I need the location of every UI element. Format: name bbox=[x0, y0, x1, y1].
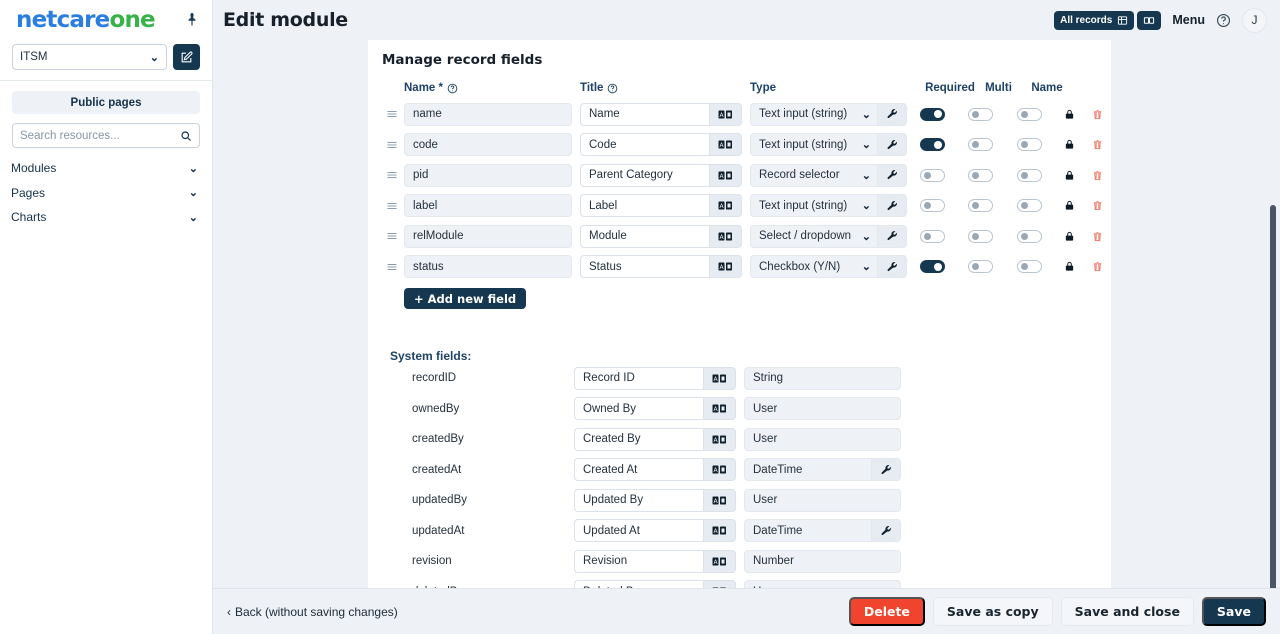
field-type-value: Record selector bbox=[759, 169, 840, 181]
required-toggle-cell bbox=[907, 199, 957, 212]
translate-icon[interactable]: A bbox=[703, 458, 736, 481]
field-name-input[interactable]: relModule bbox=[404, 225, 572, 248]
multi-toggle-cell bbox=[957, 138, 1004, 151]
field-title-group: ModuleA bbox=[580, 225, 742, 248]
field-type-group: Record selector⌄ bbox=[750, 164, 907, 187]
drag-handle-icon[interactable] bbox=[382, 230, 404, 242]
trash-icon[interactable] bbox=[1084, 108, 1110, 121]
name-toggle[interactable] bbox=[1017, 230, 1042, 243]
pin-icon[interactable] bbox=[185, 12, 201, 28]
field-name-input[interactable]: code bbox=[404, 133, 572, 156]
table-row: labelLabelAText input (string)⌄ bbox=[382, 191, 1111, 222]
org-select[interactable]: ITSM ⌄ bbox=[12, 44, 167, 70]
system-field-title-group: Created ByA bbox=[574, 428, 736, 451]
system-field-row: deletedByDeleted ByAUser bbox=[382, 577, 1111, 589]
required-toggle[interactable] bbox=[920, 138, 945, 151]
system-field-name: recordID bbox=[382, 372, 574, 384]
required-toggle-cell bbox=[907, 260, 957, 273]
sidebar-item-charts[interactable]: Charts ⌄ bbox=[0, 205, 212, 230]
all-records-button[interactable]: All records bbox=[1054, 11, 1134, 30]
name-toggle-cell bbox=[1004, 260, 1054, 273]
wrench-icon[interactable] bbox=[877, 225, 907, 248]
required-toggle[interactable] bbox=[920, 169, 945, 182]
system-field-name: updatedBy bbox=[382, 494, 574, 506]
trash-icon[interactable] bbox=[1084, 199, 1110, 212]
wrench-icon[interactable] bbox=[877, 194, 907, 217]
field-title-input[interactable]: Module bbox=[580, 225, 709, 248]
topbar: Edit module All records Menu J bbox=[213, 0, 1280, 40]
field-title-input[interactable]: Code bbox=[580, 133, 709, 156]
trash-icon[interactable] bbox=[1084, 169, 1110, 182]
field-type-select[interactable]: Select / dropdown⌄ bbox=[750, 225, 877, 248]
trash-icon[interactable] bbox=[1084, 230, 1110, 243]
required-toggle[interactable] bbox=[920, 199, 945, 212]
field-title-input[interactable]: Label bbox=[580, 194, 709, 217]
name-toggle[interactable] bbox=[1017, 169, 1042, 182]
sidebar-item-label: Pages bbox=[11, 186, 45, 200]
col-header-name: Name * bbox=[404, 82, 580, 94]
chevron-down-icon: ⌄ bbox=[862, 260, 871, 273]
trash-icon[interactable] bbox=[1084, 260, 1110, 273]
system-field-title-input[interactable]: Created By bbox=[574, 428, 703, 451]
lock-icon[interactable] bbox=[1054, 260, 1084, 273]
app-root: netcareone ITSM ⌄ Public pages Modules bbox=[0, 0, 1280, 634]
help-circle-icon[interactable] bbox=[447, 83, 458, 94]
field-type-group: Text input (string)⌄ bbox=[750, 194, 907, 217]
table-row: codeCodeAText input (string)⌄ bbox=[382, 130, 1111, 161]
wrench-icon[interactable] bbox=[877, 164, 907, 187]
field-name-input[interactable]: name bbox=[404, 103, 572, 126]
field-type-select[interactable]: Text input (string)⌄ bbox=[750, 194, 877, 217]
col-header-name-label: Name * bbox=[404, 82, 443, 94]
system-field-type: User bbox=[744, 489, 901, 512]
system-field-type: User bbox=[744, 397, 901, 420]
field-type-select[interactable]: Record selector⌄ bbox=[750, 164, 877, 187]
public-pages-button[interactable]: Public pages bbox=[12, 91, 200, 114]
system-field-title-group: Deleted ByA bbox=[574, 580, 736, 588]
system-field-name: ownedBy bbox=[382, 403, 574, 415]
name-toggle[interactable] bbox=[1017, 108, 1042, 121]
system-field-row: updatedByUpdated ByAUser bbox=[382, 485, 1111, 516]
help-circle-icon[interactable] bbox=[1216, 13, 1231, 28]
sidebar: netcareone ITSM ⌄ Public pages Modules bbox=[0, 0, 213, 634]
col-header-type: Type bbox=[750, 82, 925, 94]
sidebar-item-label: Modules bbox=[11, 161, 56, 175]
chevron-down-icon: ⌄ bbox=[862, 108, 871, 121]
chevron-down-icon: ⌄ bbox=[862, 138, 871, 151]
chevron-down-icon: ⌄ bbox=[862, 199, 871, 212]
multi-toggle-cell bbox=[957, 199, 1004, 212]
org-selector-row: ITSM ⌄ bbox=[0, 40, 212, 80]
sidebar-item-pages[interactable]: Pages ⌄ bbox=[0, 181, 212, 206]
app-logo[interactable]: netcareone bbox=[16, 7, 155, 33]
system-field-title-input[interactable]: Deleted By bbox=[574, 580, 703, 588]
system-field-title-input[interactable]: Updated By bbox=[574, 489, 703, 512]
fields-table-header: Name * Title Type Required Multi bbox=[382, 77, 1111, 99]
system-field-name: updatedAt bbox=[382, 525, 574, 537]
translate-icon[interactable]: A bbox=[709, 225, 742, 248]
table-row: pidParent CategoryARecord selector⌄ bbox=[382, 160, 1111, 191]
field-type-value: Text input (string) bbox=[759, 200, 847, 212]
field-title-input[interactable]: Parent Category bbox=[580, 164, 709, 187]
system-field-title-input[interactable]: Updated At bbox=[574, 519, 703, 542]
add-new-field-button[interactable]: + Add new field bbox=[404, 288, 526, 309]
multi-toggle-cell bbox=[957, 169, 1004, 182]
translate-icon[interactable]: A bbox=[703, 580, 736, 588]
system-field-name: createdAt bbox=[382, 464, 574, 476]
view-switch-group: All records bbox=[1054, 11, 1161, 30]
field-title-group: StatusA bbox=[580, 255, 742, 278]
back-link-label: Back (without saving changes) bbox=[235, 605, 398, 619]
lock-icon[interactable] bbox=[1054, 169, 1084, 182]
multi-toggle[interactable] bbox=[968, 138, 993, 151]
table-row: nameNameAText input (string)⌄ bbox=[382, 99, 1111, 130]
delete-button[interactable]: Delete bbox=[849, 597, 925, 626]
field-type-group: Select / dropdown⌄ bbox=[750, 225, 907, 248]
field-name-input[interactable]: label bbox=[404, 194, 572, 217]
chevron-down-icon: ⌄ bbox=[862, 169, 871, 182]
system-field-type: String bbox=[744, 367, 901, 390]
system-field-title-group: Owned ByA bbox=[574, 397, 736, 420]
translate-icon[interactable]: A bbox=[703, 397, 736, 420]
drag-handle-icon[interactable] bbox=[382, 261, 404, 273]
wrench-icon[interactable] bbox=[871, 458, 901, 481]
translate-icon[interactable]: A bbox=[709, 133, 742, 156]
field-type-select[interactable]: Text input (string)⌄ bbox=[750, 133, 877, 156]
search-icon[interactable] bbox=[180, 130, 192, 142]
chevron-down-icon: ⌄ bbox=[189, 186, 198, 199]
translate-icon[interactable]: A bbox=[709, 103, 742, 126]
system-field-row: updatedAtUpdated AtADateTime bbox=[382, 516, 1111, 547]
field-title-input[interactable]: Status bbox=[580, 255, 709, 278]
field-name-input[interactable]: pid bbox=[404, 164, 572, 187]
system-field-title-group: Updated AtA bbox=[574, 519, 736, 542]
chevron-down-icon: ⌄ bbox=[150, 51, 159, 64]
system-field-type: User bbox=[744, 580, 901, 588]
translate-icon[interactable]: A bbox=[709, 194, 742, 217]
system-field-title-input[interactable]: Owned By bbox=[574, 397, 703, 420]
required-toggle-cell bbox=[907, 108, 957, 121]
system-field-type: DateTime bbox=[744, 458, 871, 481]
multi-toggle[interactable] bbox=[968, 169, 993, 182]
name-toggle-cell bbox=[1004, 138, 1054, 151]
system-field-title-group: RevisionA bbox=[574, 550, 736, 573]
system-field-type: DateTime bbox=[744, 519, 871, 542]
save-button[interactable]: Save bbox=[1202, 597, 1266, 626]
multi-toggle-cell bbox=[957, 230, 1004, 243]
sidebar-item-label: Charts bbox=[11, 210, 46, 224]
sidebar-nav: Modules ⌄ Pages ⌄ Charts ⌄ bbox=[0, 156, 212, 230]
required-toggle[interactable] bbox=[920, 260, 945, 273]
system-field-type: Number bbox=[744, 550, 901, 573]
col-header-multi: Multi bbox=[975, 82, 1022, 94]
content-area: Manage record fields Name * Title bbox=[213, 40, 1280, 588]
field-type-group: Text input (string)⌄ bbox=[750, 133, 907, 156]
card-view-button[interactable] bbox=[1137, 11, 1161, 30]
content-scrollbar[interactable] bbox=[1270, 205, 1276, 588]
field-title-input[interactable]: Name bbox=[580, 103, 709, 126]
multi-toggle[interactable] bbox=[968, 260, 993, 273]
system-field-title-group: Created AtA bbox=[574, 458, 736, 481]
fields-table-body: nameNameAText input (string)⌄codeCodeATe… bbox=[382, 99, 1111, 282]
system-field-title-group: Record IDA bbox=[574, 367, 736, 390]
required-toggle-cell bbox=[907, 169, 957, 182]
multi-toggle[interactable] bbox=[968, 230, 993, 243]
system-fields-body: recordIDRecord IDAStringownedByOwned ByA… bbox=[382, 363, 1111, 588]
field-title-group: LabelA bbox=[580, 194, 742, 217]
system-field-title-group: Updated ByA bbox=[574, 489, 736, 512]
field-type-select[interactable]: Checkbox (Y/N)⌄ bbox=[750, 255, 877, 278]
system-field-name: createdBy bbox=[382, 433, 574, 445]
field-type-value: Text input (string) bbox=[759, 139, 847, 151]
system-field-row: createdAtCreated AtADateTime bbox=[382, 455, 1111, 486]
all-records-label: All records bbox=[1060, 15, 1112, 26]
table-row: statusStatusACheckbox (Y/N)⌄ bbox=[382, 252, 1111, 283]
translate-icon[interactable]: A bbox=[703, 550, 736, 573]
system-field-title-input[interactable]: Created At bbox=[574, 458, 703, 481]
drag-handle-icon[interactable] bbox=[382, 139, 404, 151]
wrench-icon[interactable] bbox=[877, 133, 907, 156]
field-title-group: CodeA bbox=[580, 133, 742, 156]
name-toggle[interactable] bbox=[1017, 138, 1042, 151]
multi-toggle-cell bbox=[957, 260, 1004, 273]
table-row: relModuleModuleASelect / dropdown⌄ bbox=[382, 221, 1111, 252]
name-toggle-cell bbox=[1004, 199, 1054, 212]
translate-icon[interactable]: A bbox=[709, 164, 742, 187]
wrench-icon[interactable] bbox=[871, 519, 901, 542]
col-header-title: Title bbox=[580, 82, 750, 94]
translate-icon[interactable]: A bbox=[703, 428, 736, 451]
field-type-group: Text input (string)⌄ bbox=[750, 103, 907, 126]
col-header-name-toggle: Name bbox=[1022, 82, 1072, 94]
page-title: Edit module bbox=[223, 9, 348, 31]
field-type-group: Checkbox (Y/N)⌄ bbox=[750, 255, 907, 278]
save-as-copy-button[interactable]: Save as copy bbox=[933, 597, 1053, 626]
lock-icon[interactable] bbox=[1054, 199, 1084, 212]
name-toggle-cell bbox=[1004, 108, 1054, 121]
avatar[interactable]: J bbox=[1242, 8, 1267, 33]
lock-icon[interactable] bbox=[1054, 230, 1084, 243]
field-title-group: NameA bbox=[580, 103, 742, 126]
field-type-value: Checkbox (Y/N) bbox=[759, 261, 840, 273]
back-link[interactable]: ‹ Back (without saving changes) bbox=[227, 605, 398, 619]
name-toggle[interactable] bbox=[1017, 199, 1042, 212]
system-field-row: revisionRevisionANumber bbox=[382, 546, 1111, 577]
search-resources-field[interactable] bbox=[12, 123, 200, 148]
required-toggle[interactable] bbox=[920, 230, 945, 243]
name-toggle-cell bbox=[1004, 169, 1054, 182]
system-fields-title: System fields: bbox=[390, 349, 1111, 363]
wrench-icon[interactable] bbox=[877, 103, 907, 126]
lock-icon[interactable] bbox=[1054, 138, 1084, 151]
col-header-title-label: Title bbox=[580, 82, 603, 94]
system-field-row: ownedByOwned ByAUser bbox=[382, 394, 1111, 425]
drag-handle-icon[interactable] bbox=[382, 169, 404, 181]
footer-buttons: Delete Save as copy Save and close Save bbox=[849, 597, 1266, 626]
translate-icon[interactable]: A bbox=[709, 255, 742, 278]
system-field-title-input[interactable]: Revision bbox=[574, 550, 703, 573]
system-field-type: User bbox=[744, 428, 901, 451]
required-toggle-cell bbox=[907, 138, 957, 151]
org-select-value: ITSM bbox=[20, 51, 47, 63]
drag-handle-icon[interactable] bbox=[382, 200, 404, 212]
system-field-title-input[interactable]: Record ID bbox=[574, 367, 703, 390]
topbar-actions: All records Menu J bbox=[1054, 8, 1280, 33]
logo-row: netcareone bbox=[0, 0, 212, 40]
field-type-value: Select / dropdown bbox=[759, 230, 851, 242]
field-type-select[interactable]: Text input (string)⌄ bbox=[750, 103, 877, 126]
chevron-down-icon: ⌄ bbox=[189, 162, 198, 175]
footer-actionbar: ‹ Back (without saving changes) Delete S… bbox=[213, 588, 1280, 634]
multi-toggle-cell bbox=[957, 108, 1004, 121]
save-and-close-button[interactable]: Save and close bbox=[1061, 597, 1194, 626]
system-field-row: createdByCreated ByAUser bbox=[382, 424, 1111, 455]
field-type-value: Text input (string) bbox=[759, 108, 847, 120]
system-field-row: recordIDRecord IDAString bbox=[382, 363, 1111, 394]
menu-button[interactable]: Menu bbox=[1172, 13, 1205, 27]
field-title-group: Parent CategoryA bbox=[580, 164, 742, 187]
wrench-icon[interactable] bbox=[877, 255, 907, 278]
system-field-name: revision bbox=[382, 555, 574, 567]
chevron-left-icon: ‹ bbox=[227, 605, 231, 619]
sidebar-divider bbox=[0, 80, 212, 81]
multi-toggle[interactable] bbox=[968, 199, 993, 212]
card-view-icon[interactable] bbox=[1143, 15, 1155, 26]
translate-icon[interactable]: A bbox=[703, 489, 736, 512]
search-input[interactable] bbox=[20, 130, 180, 142]
translate-icon[interactable]: A bbox=[703, 519, 736, 542]
chevron-down-icon: ⌄ bbox=[189, 211, 198, 224]
translate-icon[interactable]: A bbox=[703, 367, 736, 390]
field-name-input[interactable]: status bbox=[404, 255, 572, 278]
lock-icon[interactable] bbox=[1054, 108, 1084, 121]
chevron-down-icon: ⌄ bbox=[862, 230, 871, 243]
edit-square-icon[interactable] bbox=[173, 44, 200, 70]
card-title: Manage record fields bbox=[368, 40, 1111, 68]
trash-icon[interactable] bbox=[1084, 138, 1110, 151]
table-view-icon[interactable] bbox=[1117, 15, 1128, 26]
col-header-required: Required bbox=[925, 82, 975, 94]
required-toggle[interactable] bbox=[920, 108, 945, 121]
name-toggle-cell bbox=[1004, 230, 1054, 243]
sidebar-item-modules[interactable]: Modules ⌄ bbox=[0, 156, 212, 181]
name-toggle[interactable] bbox=[1017, 260, 1042, 273]
help-circle-icon[interactable] bbox=[607, 83, 618, 94]
logo-text-secondary: one bbox=[109, 7, 154, 33]
multi-toggle[interactable] bbox=[968, 108, 993, 121]
manage-record-fields-card: Manage record fields Name * Title bbox=[368, 40, 1111, 588]
required-toggle-cell bbox=[907, 230, 957, 243]
drag-handle-icon[interactable] bbox=[382, 108, 404, 120]
logo-text-primary: netcare bbox=[16, 7, 109, 33]
